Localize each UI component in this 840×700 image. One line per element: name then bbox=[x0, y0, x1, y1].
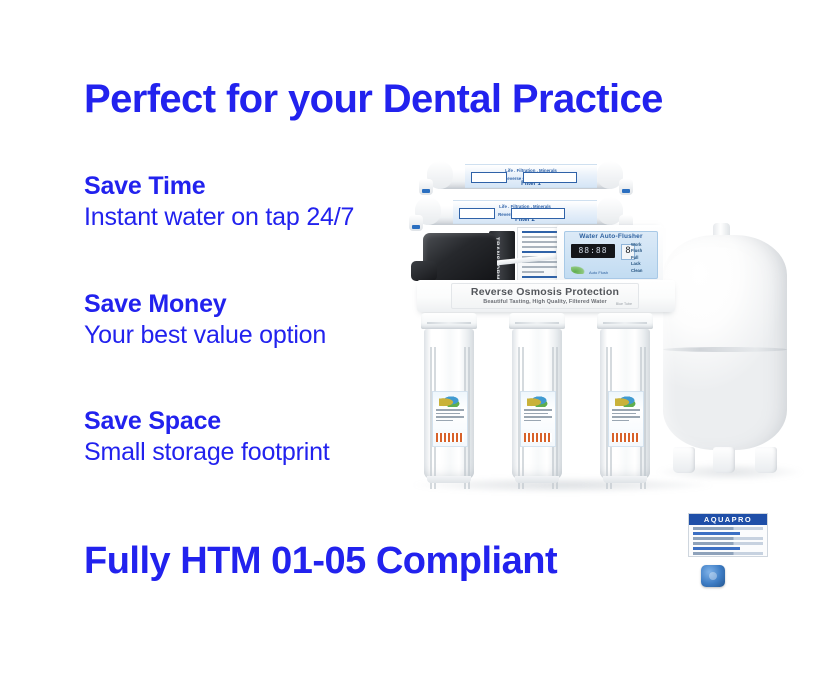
base-plate-title: Reverse Osmosis Protection bbox=[452, 286, 638, 299]
label-line bbox=[612, 416, 640, 418]
tank-brand-label: AQUAPRO bbox=[688, 513, 768, 557]
auto-flusher-note: Auto Flush bbox=[589, 270, 608, 275]
storage-tank bbox=[663, 235, 787, 450]
filter-chip-best-before bbox=[471, 172, 507, 183]
benefit-title: Save Time bbox=[84, 172, 354, 202]
filter-chip-install-date bbox=[511, 208, 565, 219]
water-drop-logo-icon bbox=[615, 395, 637, 407]
tank-label-line bbox=[693, 547, 740, 550]
inline-filter-1: Life . Filtration . Minerals Reverse Osm… bbox=[427, 161, 623, 189]
housing-collar bbox=[597, 313, 653, 329]
benefit-subtitle: Small storage footprint bbox=[84, 437, 330, 467]
tank-label-line bbox=[693, 542, 763, 545]
led-label-clean: Clean bbox=[631, 268, 653, 274]
filter-housing-1 bbox=[419, 313, 479, 483]
label-line bbox=[436, 409, 464, 411]
tank-label-line bbox=[693, 537, 763, 540]
cartridge-label bbox=[608, 391, 644, 447]
tank-foot bbox=[673, 447, 695, 473]
product-image: AQUAPRO Life . Filtration . Minerals Rev… bbox=[405, 155, 805, 505]
auto-flusher-module: Water Auto-Flusher 88:88 8 Work Flush Fu… bbox=[557, 225, 663, 285]
housing-rib bbox=[644, 347, 646, 489]
base-branding-plate: Reverse Osmosis Protection Beautiful Tas… bbox=[451, 283, 639, 309]
housing-foot bbox=[603, 476, 647, 483]
label-line bbox=[436, 420, 453, 422]
barcode-icon bbox=[524, 433, 552, 442]
cartridge-label bbox=[432, 391, 468, 447]
auto-flusher-panel[interactable]: Water Auto-Flusher 88:88 8 Work Flush Fu… bbox=[564, 231, 658, 279]
auto-flusher-title: Water Auto-Flusher bbox=[565, 232, 657, 241]
pump-head bbox=[411, 261, 437, 281]
page-title: Perfect for your Dental Practice bbox=[84, 78, 663, 120]
benefit-subtitle: Your best value option bbox=[84, 320, 326, 350]
compliance-statement: Fully HTM 01-05 Compliant bbox=[84, 540, 557, 583]
leaf-icon bbox=[571, 266, 585, 274]
label-line bbox=[612, 420, 629, 422]
label-line bbox=[524, 413, 548, 415]
benefit-title: Save Money bbox=[84, 290, 326, 320]
label-line bbox=[524, 420, 541, 422]
filter-chip-install-date bbox=[523, 172, 577, 183]
tank-foot bbox=[755, 447, 777, 473]
base-plate-corner-note: Blue Tube bbox=[616, 302, 632, 306]
label-line bbox=[524, 409, 552, 411]
benefit-title: Save Space bbox=[84, 407, 330, 437]
tank-label-line bbox=[693, 552, 763, 555]
tank-valve bbox=[701, 565, 725, 587]
poster-canvas: Perfect for your Dental Practice Save Ti… bbox=[0, 0, 840, 700]
tank-foot bbox=[713, 447, 735, 473]
tank-label-line bbox=[693, 527, 763, 530]
housing-collar bbox=[509, 313, 565, 329]
barcode-icon bbox=[612, 433, 640, 442]
housing-rib bbox=[468, 347, 470, 489]
housing-collar bbox=[421, 313, 477, 329]
label-line bbox=[524, 416, 552, 418]
benefit-subtitle: Instant water on tap 24/7 bbox=[84, 202, 354, 232]
benefit-save-time: Save Time Instant water on tap 24/7 bbox=[84, 172, 354, 232]
benefit-save-money: Save Money Your best value option bbox=[84, 290, 326, 350]
housing-rib bbox=[556, 347, 558, 489]
filter-housing-3 bbox=[595, 313, 655, 483]
housing-foot bbox=[515, 476, 559, 483]
filter-elbow bbox=[619, 179, 633, 195]
housing-foot bbox=[427, 476, 471, 483]
benefit-save-space: Save Space Small storage footprint bbox=[84, 407, 330, 467]
tank-brand-name: AQUAPRO bbox=[689, 514, 767, 525]
cartridge-label bbox=[520, 391, 556, 447]
tank-label-line bbox=[693, 532, 740, 535]
tank-seam bbox=[663, 347, 787, 352]
water-drop-logo-icon bbox=[439, 395, 461, 407]
label-line bbox=[612, 413, 636, 415]
spec-line bbox=[522, 271, 544, 273]
filter-elbow bbox=[409, 215, 423, 231]
water-drop-logo-icon bbox=[527, 395, 549, 407]
label-line bbox=[436, 413, 460, 415]
filter-chip-best-before bbox=[459, 208, 495, 219]
spec-line bbox=[522, 251, 556, 253]
filter-elbow bbox=[419, 179, 433, 195]
led-indicator-group: Work Flush Full Lack Clean bbox=[631, 242, 653, 274]
label-line bbox=[436, 416, 464, 418]
base-plate-subtitle: Beautiful Tasting, High Quality, Filtere… bbox=[452, 299, 638, 306]
filter-housing-2 bbox=[507, 313, 567, 483]
inline-filter-2: Life . Filtration . Minerals Reverse Osm… bbox=[415, 197, 623, 225]
label-line bbox=[612, 409, 640, 411]
lcd-display: 88:88 bbox=[571, 244, 615, 258]
barcode-icon bbox=[436, 433, 464, 442]
